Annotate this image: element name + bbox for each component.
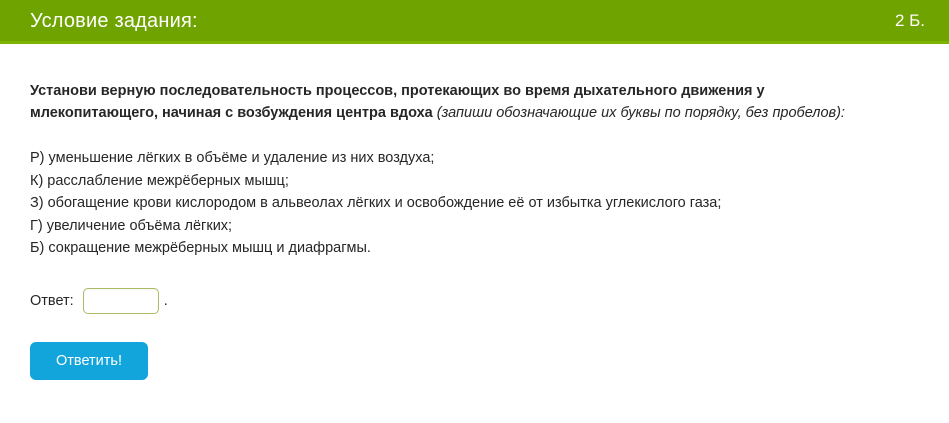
list-item: Г) увеличение объёма лёгких; bbox=[30, 215, 919, 238]
answer-period: . bbox=[164, 293, 168, 309]
answer-label: Ответ: bbox=[30, 293, 74, 309]
task-prompt-hint: (запиши обозначающие их буквы по порядку… bbox=[437, 105, 845, 121]
submit-button[interactable]: Ответить! bbox=[30, 342, 148, 380]
task-header: Условие задания: 2 Б. bbox=[0, 0, 949, 44]
page-title: Условие задания: bbox=[30, 11, 198, 31]
list-item: К) расслабление межрёберных мышц; bbox=[30, 170, 919, 193]
list-item: Б) сокращение межрёберных мышц и диафраг… bbox=[30, 237, 919, 260]
points-badge: 2 Б. bbox=[895, 12, 931, 29]
task-body: Установи верную последовательность проце… bbox=[0, 44, 949, 380]
answer-input[interactable] bbox=[83, 288, 159, 314]
task-prompt: Установи верную последовательность проце… bbox=[30, 80, 885, 125]
list-item: Р) уменьшение лёгких в объёме и удаление… bbox=[30, 147, 919, 170]
option-list: Р) уменьшение лёгких в объёме и удаление… bbox=[30, 147, 919, 260]
submit-wrap: Ответить! bbox=[30, 342, 919, 380]
answer-row: Ответ: . bbox=[30, 288, 919, 314]
list-item: З) обогащение крови кислородом в альвеол… bbox=[30, 192, 919, 215]
